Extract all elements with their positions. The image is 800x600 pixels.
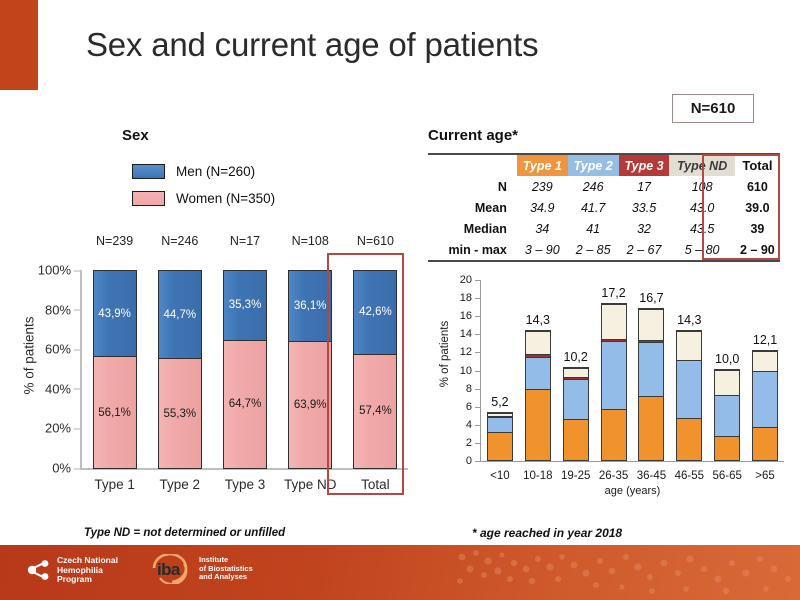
age-chart-x-tick-label: 19-25 (557, 464, 595, 482)
age-chart-segment-type-1 (526, 389, 550, 460)
age-chart-x-tick-label: 46-55 (670, 464, 708, 482)
table-cell: 34 (517, 218, 568, 239)
iba-logo: iba Institute of Biostatistics and Analy… (150, 554, 253, 584)
table-column-header: Type 3 (619, 155, 670, 176)
table-cell: 2 – 67 (619, 239, 670, 260)
age-chart-x-axis-title: age (years) (481, 485, 784, 497)
age-chart-segment-type-1 (488, 432, 512, 460)
age-chart-total-label: 14,3 (677, 313, 701, 327)
sex-chart-segment-women: 63,9% (289, 342, 331, 468)
age-chart-total-label: 17,2 (601, 286, 625, 300)
table-cell: 33.5 (619, 197, 670, 218)
sex-chart-bar-column: N=61042,6%57,4% (343, 270, 408, 469)
age-chart-x-tick-label: <10 (481, 464, 519, 482)
age-chart-bar-column: 12,1 (746, 280, 784, 461)
age-chart-x-tick-label: 56-65 (708, 464, 746, 482)
sex-chart-y-tick: 20% (45, 421, 71, 436)
legend-item-women: Women (N=350) (132, 187, 275, 209)
age-chart-x-tick-label: 26-35 (595, 464, 633, 482)
age-chart-total-label: 12,1 (753, 333, 777, 347)
age-chart-y-tick: 0 (466, 455, 472, 467)
table-cell: 32 (619, 218, 670, 239)
sex-chart-bar-column: N=23943,9%56,1% (82, 270, 147, 469)
sex-distribution-chart: % of patients 0%20%40%60%80%100% N=23943… (8, 252, 420, 500)
age-chart-stacked-bar (676, 330, 702, 461)
table-row: Mean34.941.733.543.039.0 (428, 197, 780, 218)
sex-chart-segment-men: 43,9% (94, 271, 136, 357)
age-chart-total-label: 16,7 (639, 291, 663, 305)
age-chart-segment-type-1 (602, 409, 626, 460)
age-chart-total-label: 10,2 (564, 350, 588, 364)
age-chart-stacked-bar (752, 350, 778, 462)
age-chart-segment-type-1 (639, 396, 663, 460)
age-chart-segment-type-2 (602, 341, 626, 409)
total-count-badge: N=610 (672, 94, 754, 123)
age-chart-bars: 5,214,310,217,216,714,310,012,1 (481, 280, 784, 461)
sex-chart-segment-women: 57,4% (354, 355, 396, 468)
table-cell: 2 – 90 (735, 239, 780, 260)
sex-chart-segment-women: 56,1% (94, 357, 136, 468)
sex-chart-y-tick: 80% (45, 302, 71, 317)
age-chart-segment-type-1 (677, 418, 701, 460)
age-chart-y-tick: 18 (460, 292, 472, 304)
sex-chart-bar-column: N=1735,3%64,7% (212, 270, 277, 469)
age-chart-x-axis-line (480, 461, 784, 462)
age-chart-y-tick: 12 (460, 346, 472, 358)
age-chart-segment-type-nd (677, 331, 701, 360)
table-cell: 108 (669, 176, 734, 197)
age-chart-stacked-bar (714, 369, 740, 461)
sex-chart-column-count: N=610 (357, 234, 394, 248)
age-chart-segment-type-2 (639, 342, 663, 395)
sex-chart-segment-men: 36,1% (289, 271, 331, 342)
sex-chart-segment-men: 44,7% (159, 271, 201, 359)
current-age-section-heading: Current age* (428, 127, 518, 144)
slide-root: Sex and current age of patients N=610 Se… (0, 0, 800, 600)
chp-logo-text: Czech National Hemophilia Program (57, 556, 118, 585)
table-cell: 5 – 80 (669, 239, 734, 260)
age-chart-segment-type-2 (715, 395, 739, 437)
sex-chart-x-tick-label: Type 2 (147, 471, 212, 492)
age-chart-x-tick-labels: <1010-1819-2526-3536-4546-5556-65>65 (481, 464, 784, 482)
age-chart-bar-column: 14,3 (670, 280, 708, 461)
age-chart-y-tick: 8 (466, 383, 472, 395)
age-chart-segment-type-2 (677, 360, 701, 419)
table-header-row: Type 1Type 2Type 3Type NDTotal (428, 155, 780, 176)
age-chart-total-label: 10,0 (715, 352, 739, 366)
table-bottom-rule (428, 260, 780, 262)
table-row-label: Median (428, 218, 517, 239)
current-age-table: Type 1Type 2Type 3Type NDTotalN239246171… (428, 153, 780, 262)
table-cell: 34.9 (517, 197, 568, 218)
age-chart-bar-column: 16,7 (633, 280, 671, 461)
age-chart-y-tick: 14 (460, 328, 472, 340)
table-column-header: Type ND (669, 155, 734, 176)
table-row: N23924617108610 (428, 176, 780, 197)
age-chart-bar-column: 5,2 (481, 280, 519, 461)
legend-label-men: Men (N=260) (176, 164, 255, 179)
sex-chart-segment-women: 55,3% (159, 359, 201, 468)
legend-swatch-women-icon (132, 191, 165, 206)
sex-chart-stacked-bar: 36,1%63,9% (288, 270, 332, 469)
table-row: Median34413243.539 (428, 218, 780, 239)
footnote-age-year: * age reached in year 2018 (472, 526, 622, 540)
age-chart-y-tick: 6 (466, 401, 472, 413)
sex-chart-column-count: N=239 (96, 234, 133, 248)
chp-logo-line-3: Program (57, 575, 118, 585)
legend-label-women: Women (N=350) (176, 191, 275, 206)
sex-chart-stacked-bar: 44,7%55,3% (158, 270, 202, 469)
table-column-header: Type 2 (568, 155, 619, 176)
age-chart-bar-column: 10,2 (557, 280, 595, 461)
sex-chart-y-tick: 40% (45, 381, 71, 396)
age-chart-total-label: 5,2 (491, 395, 508, 409)
age-chart-segment-type-2 (488, 417, 512, 431)
table-cell: 246 (568, 176, 619, 197)
age-chart-segment-type-nd (602, 304, 626, 338)
age-chart-segment-type-nd (715, 370, 739, 395)
table-row-label: N (428, 176, 517, 197)
page-title: Sex and current age of patients (86, 26, 538, 64)
age-chart-segment-type-nd (564, 368, 588, 377)
sex-chart-y-tick: 0% (52, 461, 71, 476)
age-chart-y-tick: 20 (460, 274, 472, 286)
age-chart-stacked-bar (638, 308, 664, 461)
age-chart-segment-type-nd (526, 331, 550, 355)
age-chart-segment-type-1 (753, 427, 777, 460)
age-chart-y-tick: 4 (466, 419, 472, 431)
age-chart-segment-type-2 (526, 357, 550, 390)
table-cell: 41 (568, 218, 619, 239)
table-cell: 43.0 (669, 197, 734, 218)
age-chart-segment-type-1 (715, 436, 739, 460)
sex-chart-segment-men: 35,3% (224, 271, 266, 341)
current-age-chart: % of patients 02468101214161820 5,214,31… (424, 280, 792, 500)
sex-chart-segment-women: 64,7% (224, 341, 266, 468)
age-chart-segment-type-2 (753, 371, 777, 427)
iba-logo-text: Institute of Biostatistics and Analyses (199, 556, 253, 582)
age-chart-stacked-bar (563, 367, 589, 461)
table-row-label: Mean (428, 197, 517, 218)
age-chart-x-tick-label: 10-18 (519, 464, 557, 482)
hemophilia-molecule-icon (26, 557, 52, 583)
table-cell: 41.7 (568, 197, 619, 218)
table-corner-cell (428, 155, 517, 176)
iba-logo-line-3: and Analyses (199, 573, 253, 582)
sex-chart-x-tick-label: Total (343, 471, 408, 492)
sex-section-heading: Sex (122, 127, 149, 144)
sex-chart-x-tick-labels: Type 1Type 2Type 3Type NDTotal (82, 471, 408, 492)
table-column-header: Total (735, 155, 780, 176)
table-cell: 43.5 (669, 218, 734, 239)
accent-bar (0, 0, 38, 90)
sex-chart-column-count: N=17 (230, 234, 260, 248)
age-chart-y-tick: 2 (466, 437, 472, 449)
sex-chart-x-tick-label: Type 1 (82, 471, 147, 492)
iba-mark-icon: iba (150, 554, 194, 584)
table-cell: 2 – 85 (568, 239, 619, 260)
sex-chart-y-tick: 100% (38, 263, 71, 278)
sex-chart-bar-column: N=10836,1%63,9% (278, 270, 343, 469)
sex-chart-bar-column: N=24644,7%55,3% (147, 270, 212, 469)
sex-chart-stacked-bar: 35,3%64,7% (223, 270, 267, 469)
age-chart-y-tick: 10 (460, 365, 472, 377)
table-column-header: Type 1 (517, 155, 568, 176)
table-row-label: min - max (428, 239, 517, 260)
sex-chart-y-tick: 60% (45, 342, 71, 357)
age-chart-stacked-bar (601, 303, 627, 461)
age-chart-stacked-bar (487, 412, 513, 461)
sex-chart-x-tick-label: Type ND (278, 471, 343, 492)
sex-chart-stacked-bar: 42,6%57,4% (353, 270, 397, 469)
age-chart-bar-column: 10,0 (708, 280, 746, 461)
sex-chart-bars: N=23943,9%56,1%N=24644,7%55,3%N=1735,3%6… (82, 270, 408, 469)
table-cell: 610 (735, 176, 780, 197)
sex-chart-column-count: N=108 (292, 234, 329, 248)
legend-swatch-men-icon (132, 164, 165, 179)
footnote-type-nd: Type ND = not determined or unfilled (84, 527, 285, 539)
age-chart-segment-type-nd (753, 351, 777, 372)
age-chart-segment-type-nd (639, 309, 663, 340)
age-chart-total-label: 14,3 (526, 313, 550, 327)
sex-chart-y-axis: 0%20%40%60%80%100% (28, 270, 80, 468)
age-chart-bar-column: 14,3 (519, 280, 557, 461)
age-chart-y-tick: 16 (460, 310, 472, 322)
legend-item-men: Men (N=260) (132, 160, 275, 182)
table-cell: 17 (619, 176, 670, 197)
iba-wordmark: iba (157, 560, 180, 580)
table-cell: 39 (735, 218, 780, 239)
sex-chart-segment-men: 42,6% (354, 271, 396, 355)
age-chart-x-tick-label: >65 (746, 464, 784, 482)
current-age-table-body: Type 1Type 2Type 3Type NDTotalN239246171… (428, 153, 780, 262)
table-row: min - max3 – 902 – 852 – 675 – 802 – 90 (428, 239, 780, 260)
sex-chart-legend: Men (N=260) Women (N=350) (132, 160, 275, 214)
sex-chart-x-tick-label: Type 3 (212, 471, 277, 492)
age-chart-x-tick-label: 36-45 (633, 464, 671, 482)
table-cell: 39.0 (735, 197, 780, 218)
czech-national-hemophilia-program-logo: Czech National Hemophilia Program (26, 556, 118, 585)
age-chart-y-axis: 02468101214161820 (438, 280, 480, 462)
age-chart-segment-type-1 (564, 419, 588, 460)
footer-decorative-dots (440, 545, 800, 600)
age-chart-stacked-bar (525, 330, 551, 461)
table-cell: 239 (517, 176, 568, 197)
sex-chart-column-count: N=246 (161, 234, 198, 248)
age-chart-bar-column: 17,2 (595, 280, 633, 461)
table-cell: 3 – 90 (517, 239, 568, 260)
slide-footer: Czech National Hemophilia Program iba In… (0, 545, 800, 600)
sex-chart-stacked-bar: 43,9%56,1% (93, 270, 137, 469)
age-chart-segment-type-2 (564, 379, 588, 419)
